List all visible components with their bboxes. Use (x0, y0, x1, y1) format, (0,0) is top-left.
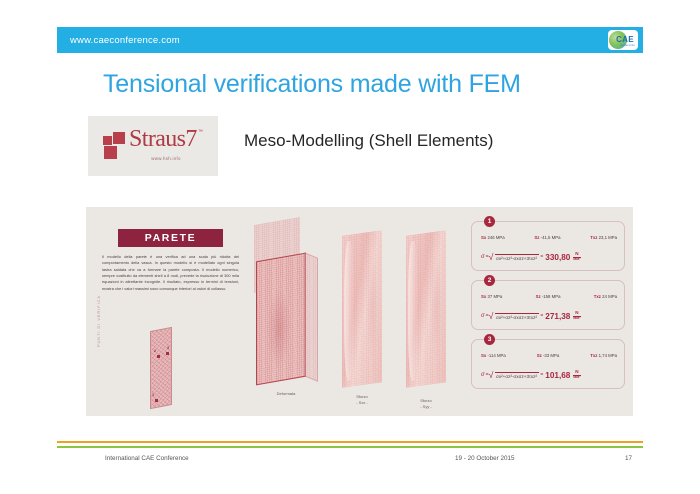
footer: International CAE Conference 19 - 20 Oct… (57, 452, 643, 466)
footer-rule-green (57, 446, 643, 448)
parete-description: Il modello della parete è una verifica a… (102, 254, 239, 292)
formula-2: σ = √ σx²+σz²-σxσz+3τxz² = 271,38 N MM² (481, 307, 617, 325)
mesh-side-face (304, 252, 318, 382)
equals-sign-1b: = (539, 254, 543, 260)
cae-logo-subtext: conference (620, 44, 635, 47)
radicand-1: σx²+σz²-σxσz+3τxz² (495, 254, 539, 261)
result-value-1: 330,80 (545, 253, 570, 262)
result-unit-1: N MM² (573, 252, 580, 262)
result-box-3: 3 Sx -114 MPa Sz -33 MPa Txz 1,74 MPa σ … (471, 339, 625, 389)
parete-banner: PARETE (118, 229, 223, 247)
formula-3: σ = √ σx²+σz²-σxσz+3τxz² = 101,68 N MM² (481, 366, 617, 384)
wall-sketch-diagram: 2 3 1 (148, 329, 174, 407)
result-badge-3: 3 (484, 334, 495, 345)
sz-value-3: Sz -33 MPa (537, 353, 559, 358)
top-bar: www.caeconference.com CAE conference (57, 27, 643, 53)
sigma-id-symbol-3: σ (481, 372, 485, 378)
logo-square-small-icon (103, 136, 112, 145)
verification-points-label: PUNTI DI VERIFICA (97, 286, 101, 356)
point-marker-label-2: 2 (154, 349, 156, 353)
point-marker-label-3: 3 (167, 346, 169, 350)
cae-logo: CAE conference (608, 30, 638, 50)
formula-1: σ = √ σx²+σz²-σxσz+3τxz² = 330,80 N MM² (481, 248, 617, 266)
stress-sxx-contour (366, 251, 378, 363)
equals-sign-2b: = (539, 313, 543, 319)
sx-value-3: Sx -114 MPa (481, 353, 506, 358)
radicand-2: σx²+σz²-σxσz+3τxz² (495, 313, 539, 320)
equals-sign-3b: = (539, 372, 543, 378)
caption-deformata: Deformata (254, 391, 318, 397)
straus7-wordmark: Straus7 (129, 127, 197, 151)
result-badge-1: 1 (484, 216, 495, 227)
sz-value-2: Sz -158 MPa (536, 294, 561, 299)
page-title: Tensional verifications made with FEM (103, 70, 623, 99)
stress-syy-contour (430, 251, 442, 363)
result-badge-2: 2 (484, 275, 495, 286)
stress-syy-plate (406, 230, 446, 388)
radical-icon-3: √ (489, 371, 494, 380)
straus7-logo: Straus7 ™ www.hsh.info (88, 116, 218, 176)
stress-values-3: Sx -114 MPa Sz -33 MPa Txz 1,74 MPa (481, 353, 617, 358)
stress-syy-band (408, 240, 418, 381)
sigma-id-symbol-2: σ (481, 313, 485, 319)
slide-subtitle: Meso-Modelling (Shell Elements) (244, 131, 493, 151)
sz-value-1: Sz -41,5 MPa (534, 235, 560, 240)
result-box-1: 1 Sx 246 MPa Sz -41,5 MPa Txz 23,1 MPa σ… (471, 221, 625, 271)
footer-page-number: 17 (625, 455, 632, 462)
radicand-3: σx²+σz²-σxσz+3τxz² (495, 372, 539, 379)
result-box-2: 2 Sx 37 MPa Sz -158 MPa Txz 24 MPa σ = √… (471, 280, 625, 330)
stress-values-1: Sx 246 MPa Sz -41,5 MPa Txz 23,1 MPa (481, 235, 617, 240)
sx-value-2: Sx 37 MPa (481, 294, 502, 299)
footer-conference-name: International CAE Conference (105, 455, 189, 462)
txz-value-3: Txz 1,74 MPa (590, 353, 617, 358)
sigma-id-symbol-1: σ (481, 254, 485, 260)
conference-url[interactable]: www.caeconference.com (70, 35, 180, 46)
stress-values-2: Sx 37 MPa Sz -158 MPa Txz 24 MPa (481, 294, 617, 299)
txz-value-1: Txz 23,1 MPa (590, 235, 617, 240)
footer-date: 19 - 20 October 2015 (455, 455, 515, 462)
radical-icon-2: √ (489, 312, 494, 321)
point-marker-2 (157, 355, 160, 358)
sx-value-1: Sx 246 MPa (481, 235, 505, 240)
result-value-3: 101,68 (545, 371, 570, 380)
stress-sxx-plate (342, 230, 382, 388)
radical-icon-1: √ (489, 253, 494, 262)
point-marker-label-1: 1 (152, 393, 154, 397)
logo-square-big-icon (104, 146, 117, 159)
results-list: 1 Sx 246 MPa Sz -41,5 MPa Txz 23,1 MPa σ… (471, 215, 623, 410)
result-unit-2: N MM² (573, 311, 580, 321)
straus7-url: www.hsh.info (131, 156, 201, 161)
caption-sforzo-syy: Sforzo - Syy - (396, 398, 456, 410)
caption-sforzo-sxx: Sforzo - Sxx - (332, 394, 392, 406)
footer-rule-orange (57, 441, 643, 443)
result-unit-3: N MM² (573, 370, 580, 380)
trademark-symbol: ™ (198, 129, 203, 135)
cae-logo-text: CAE (616, 36, 634, 44)
fem-model-images: Deformata Sforzo - Sxx - Sforzo - Syy - (254, 221, 454, 411)
txz-value-2: Txz 24 MPa (594, 294, 617, 299)
deformed-mesh (256, 253, 306, 386)
point-marker-1 (155, 399, 158, 402)
slide: www.caeconference.com CAE conference Ten… (0, 0, 700, 494)
infographic-panel: PARETE Il modello della parete è una ver… (86, 207, 633, 416)
logo-square-top-icon (113, 132, 125, 144)
result-value-2: 271,38 (545, 312, 570, 321)
point-marker-3 (166, 352, 169, 355)
stress-sxx-band (344, 240, 354, 381)
deformation-contour (267, 286, 291, 370)
